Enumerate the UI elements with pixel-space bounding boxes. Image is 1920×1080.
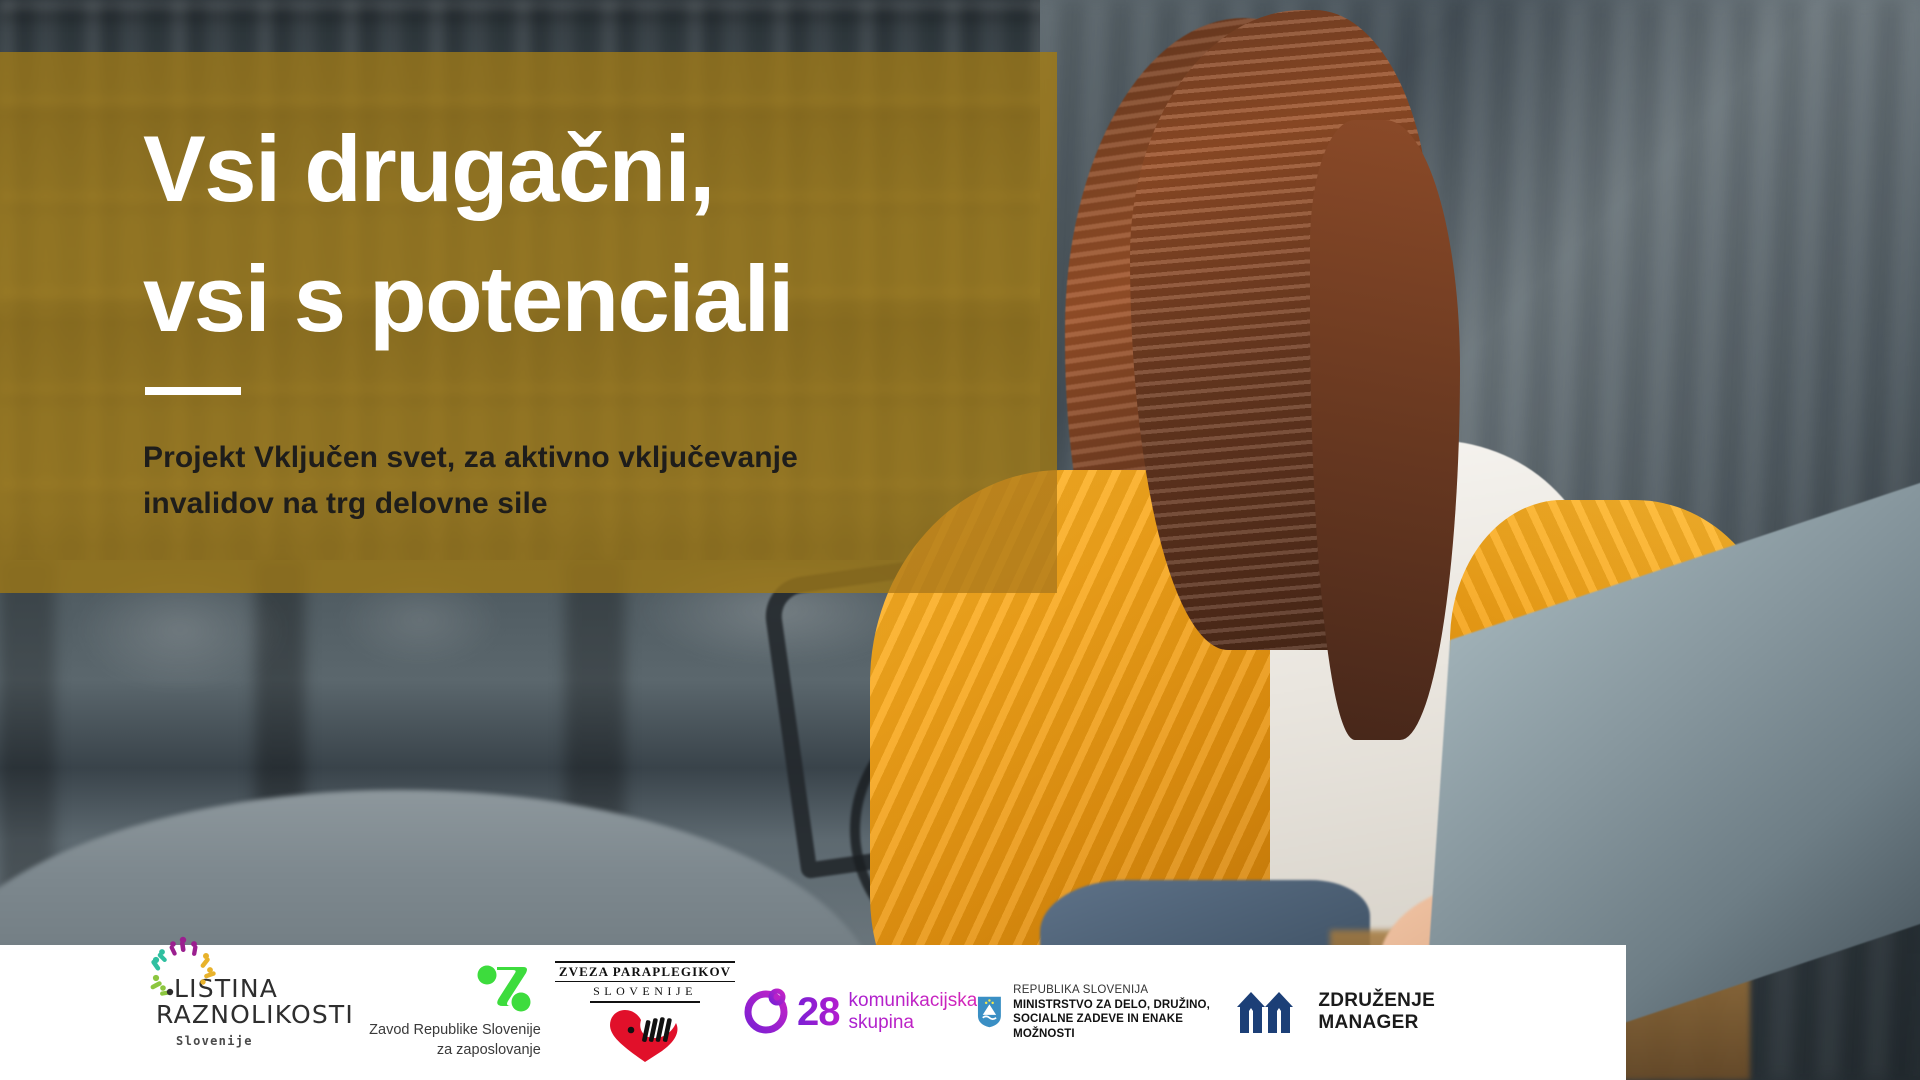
ministrstvo-line-3: SOCIALNE ZADEVE IN ENAKE MOŽNOSTI bbox=[1013, 1012, 1237, 1042]
subheadline-line-1: Projekt Vključen svet, za aktivno vključ… bbox=[143, 441, 798, 474]
partner-logo-bar: Listina raznolikosti Slovenije Zavod Rep… bbox=[0, 945, 1626, 1080]
manager-m-arrows-icon bbox=[1237, 989, 1307, 1035]
zveza-line-1: ZVEZA PARAPLEGIKOV bbox=[555, 961, 735, 981]
subheadline: Projekt Vključen svet, za aktivno vključ… bbox=[143, 435, 973, 526]
heart-wheelchair-icon bbox=[606, 1008, 684, 1064]
headline-line-2: vsi s potenciali bbox=[143, 234, 1057, 364]
zdruzenje-line-1: ZDRUŽENJE bbox=[1318, 990, 1435, 1012]
slovenia-coat-of-arms-icon bbox=[977, 995, 1002, 1029]
listina-line-2: raznolikosti bbox=[156, 1002, 354, 1028]
ministrstvo-line-1: REPUBLIKA SLOVENIJA bbox=[1013, 983, 1237, 998]
hair-side-strand bbox=[1310, 120, 1460, 740]
headline-line-1: Vsi drugačni, bbox=[143, 104, 1057, 234]
zavod-line-1: Zavod Republike Slovenije bbox=[369, 1021, 541, 1041]
o28-circle-icon bbox=[740, 986, 792, 1038]
headline-underline-rule bbox=[145, 387, 241, 395]
zveza-line-2: SLOVENIJE bbox=[590, 984, 700, 1003]
poster-stage: Vsi drugačni, vsi s potenciali Projekt V… bbox=[0, 0, 1920, 1080]
o28-number: 28 bbox=[797, 990, 840, 1035]
logo-o28-komunikacijska-skupina[interactable]: 28 komunikacijska skupina bbox=[740, 986, 977, 1038]
zavod-line-2: za zaposlovanje bbox=[369, 1041, 541, 1061]
hero-copy-block: Vsi drugačni, vsi s potenciali Projekt V… bbox=[0, 52, 1057, 593]
diversity-burst-icon bbox=[148, 934, 220, 1000]
zavod-z-mark-icon bbox=[477, 964, 533, 1014]
logo-zveza-paraplegikov[interactable]: ZVEZA PARAPLEGIKOV SLOVENIJE bbox=[550, 961, 740, 1063]
o28-line-1: komunikacijska bbox=[849, 990, 978, 1012]
zdruzenje-line-2: MANAGER bbox=[1318, 1012, 1435, 1034]
listina-line-3: Slovenije bbox=[176, 1034, 253, 1048]
subheadline-line-2: invalidov na trg delovne sile bbox=[143, 487, 548, 520]
logo-ministrstvo-za-delo[interactable]: REPUBLIKA SLOVENIJA MINISTRSTVO ZA DELO,… bbox=[977, 983, 1237, 1043]
logo-zavod-rs-zaposlovanje[interactable]: Zavod Republike Slovenije za zaposlovanj… bbox=[360, 964, 550, 1060]
logo-zdruzenje-manager[interactable]: ZDRUŽENJE MANAGER bbox=[1237, 989, 1435, 1035]
o28-line-2: skupina bbox=[849, 1012, 978, 1034]
logo-row: Listina raznolikosti Slovenije Zavod Rep… bbox=[0, 961, 1626, 1063]
logo-listina-raznolikosti[interactable]: Listina raznolikosti Slovenije bbox=[150, 976, 360, 1048]
person-in-wheelchair bbox=[980, 0, 1760, 1080]
ministrstvo-line-2: MINISTRSTVO ZA DELO, DRUŽINO, bbox=[1013, 998, 1237, 1013]
